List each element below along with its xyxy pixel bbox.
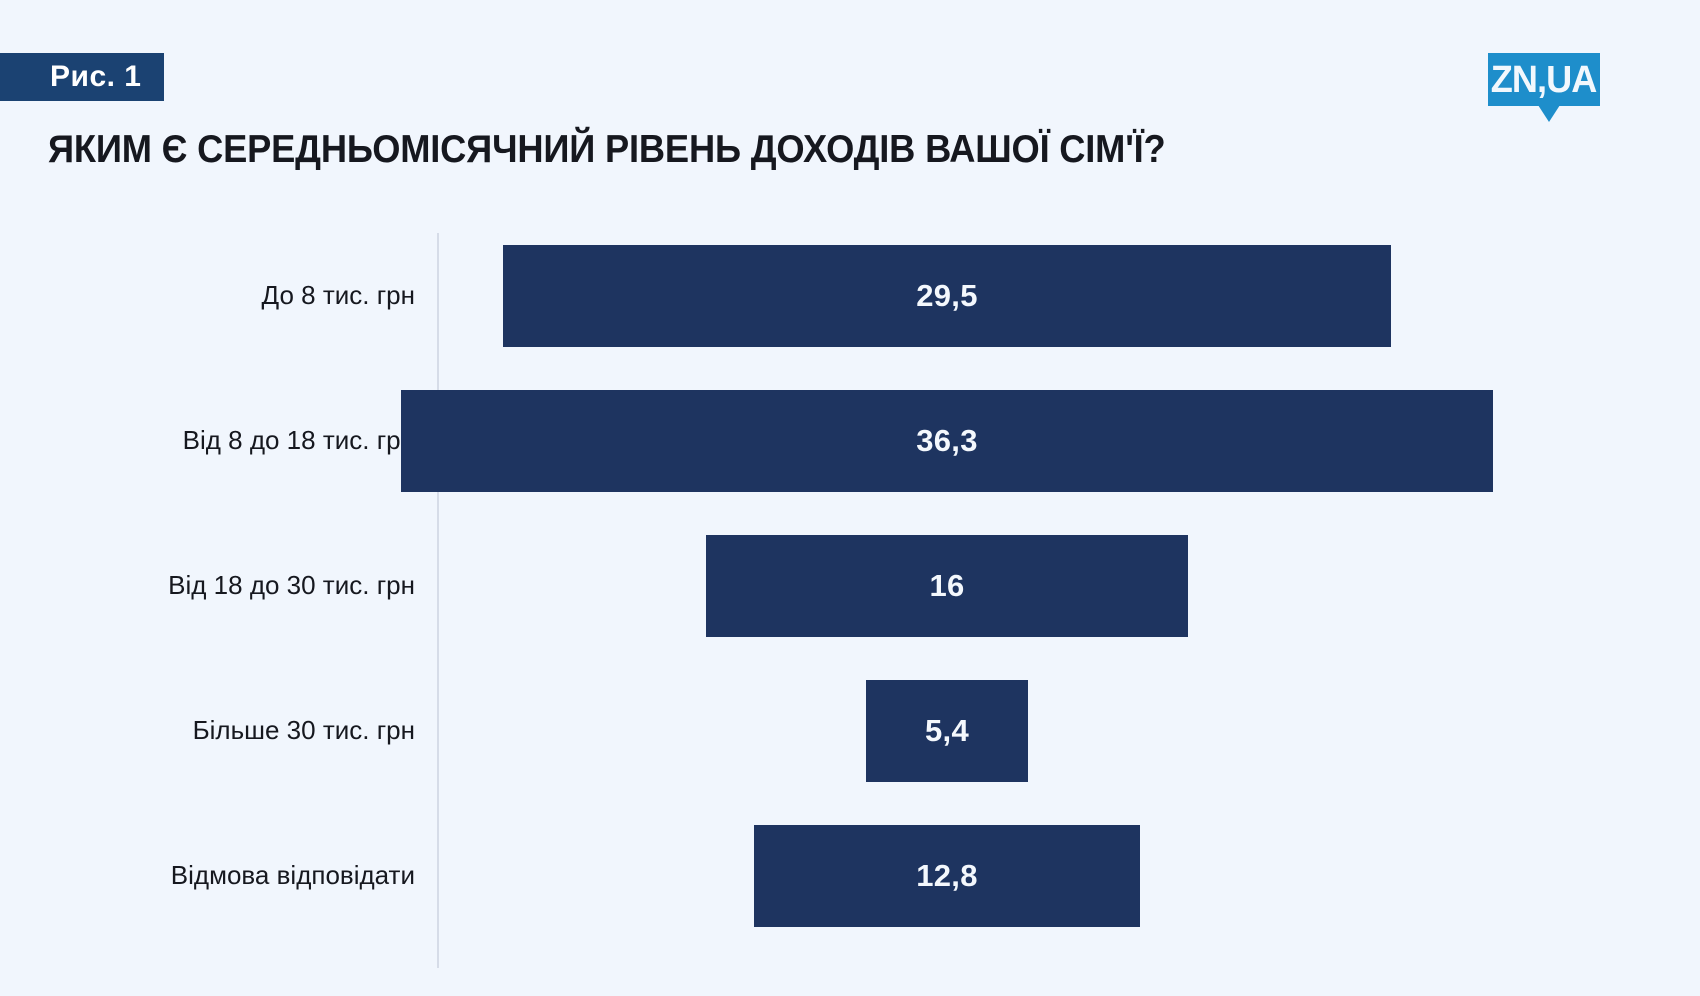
bar-value-label: 12,8 bbox=[916, 858, 978, 894]
bar-track: 29,5 bbox=[437, 223, 1700, 368]
logo-box: ZN,UA bbox=[1488, 53, 1600, 106]
bar-value-label: 29,5 bbox=[916, 278, 978, 314]
bar-track: 16 bbox=[437, 513, 1700, 658]
bar-row: Більше 30 тис. грн5,4 bbox=[0, 658, 1700, 803]
bar-value-label: 5,4 bbox=[925, 713, 969, 749]
category-label: Від 8 до 18 тис. грн bbox=[0, 368, 415, 513]
bar-track: 5,4 bbox=[437, 658, 1700, 803]
bar[interactable]: 5,4 bbox=[866, 680, 1029, 782]
category-label: Більше 30 тис. грн bbox=[0, 658, 415, 803]
bar-row: Від 8 до 18 тис. грн36,3 bbox=[0, 368, 1700, 513]
bar[interactable]: 12,8 bbox=[754, 825, 1139, 927]
bar-value-label: 36,3 bbox=[916, 423, 978, 459]
zn-ua-logo[interactable]: ZN,UA bbox=[1488, 53, 1600, 106]
bar[interactable]: 16 bbox=[706, 535, 1188, 637]
page-title: ЯКИМ Є СЕРЕДНЬОМІСЯЧНИЙ РІВЕНЬ ДОХОДІВ В… bbox=[48, 128, 1165, 172]
bar-track: 12,8 bbox=[437, 803, 1700, 948]
figure-badge: Рис. 1 bbox=[0, 53, 164, 101]
category-label: Відмова відповідати bbox=[0, 803, 415, 948]
logo-text: ZN,UA bbox=[1491, 61, 1597, 99]
bar-chart: До 8 тис. грн29,5Від 8 до 18 тис. грн36,… bbox=[0, 215, 1700, 996]
category-label: Від 18 до 30 тис. грн bbox=[0, 513, 415, 658]
category-label: До 8 тис. грн bbox=[0, 223, 415, 368]
bar-row: Відмова відповідати12,8 bbox=[0, 803, 1700, 948]
figure-badge-label: Рис. 1 bbox=[50, 60, 142, 94]
bar-row: Від 18 до 30 тис. грн16 bbox=[0, 513, 1700, 658]
bar[interactable]: 29,5 bbox=[503, 245, 1391, 347]
bar-track: 36,3 bbox=[437, 368, 1700, 513]
bar-value-label: 16 bbox=[929, 568, 964, 604]
bar-row: До 8 тис. грн29,5 bbox=[0, 223, 1700, 368]
bar[interactable]: 36,3 bbox=[401, 390, 1494, 492]
speech-bubble-tail-icon bbox=[1538, 105, 1560, 122]
chart-header: Рис. 1 ЯКИМ Є СЕРЕДНЬОМІСЯЧНИЙ РІВЕНЬ ДО… bbox=[0, 0, 1700, 215]
